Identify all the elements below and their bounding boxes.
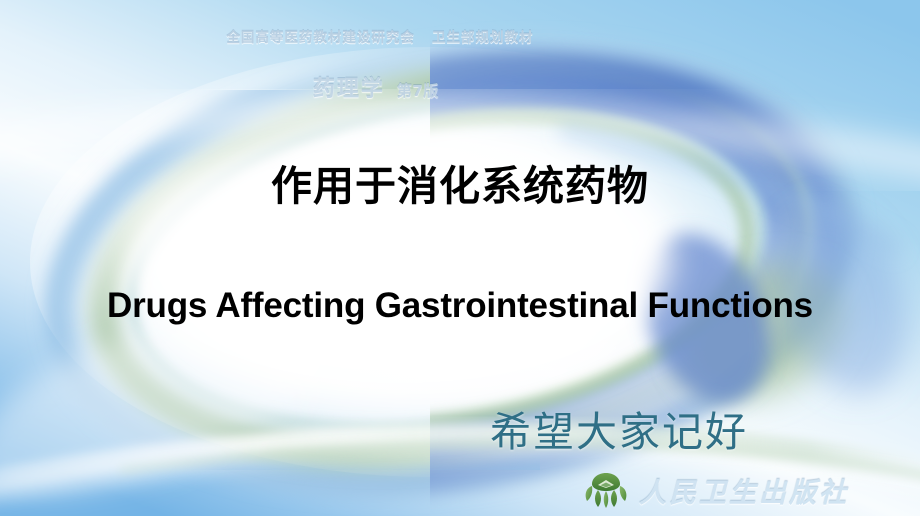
slide-title-english: Drugs Affecting Gastrointestinal Functio… (60, 283, 860, 329)
presentation-slide: 全国高等医药教材建设研究会 卫生部规划教材 药理学第7版 作用于消化系统药物 D… (0, 0, 920, 516)
publisher-block: 人民卫生出版社 (583, 470, 849, 510)
slide-title-chinese: 作用于消化系统药物 (0, 152, 920, 212)
slide-background (0, 0, 920, 516)
lotus-book-emblem-icon (583, 470, 629, 510)
publisher-name: 人民卫生出版社 (639, 471, 849, 510)
slide-note-chinese: 希望大家记好 (490, 398, 748, 458)
